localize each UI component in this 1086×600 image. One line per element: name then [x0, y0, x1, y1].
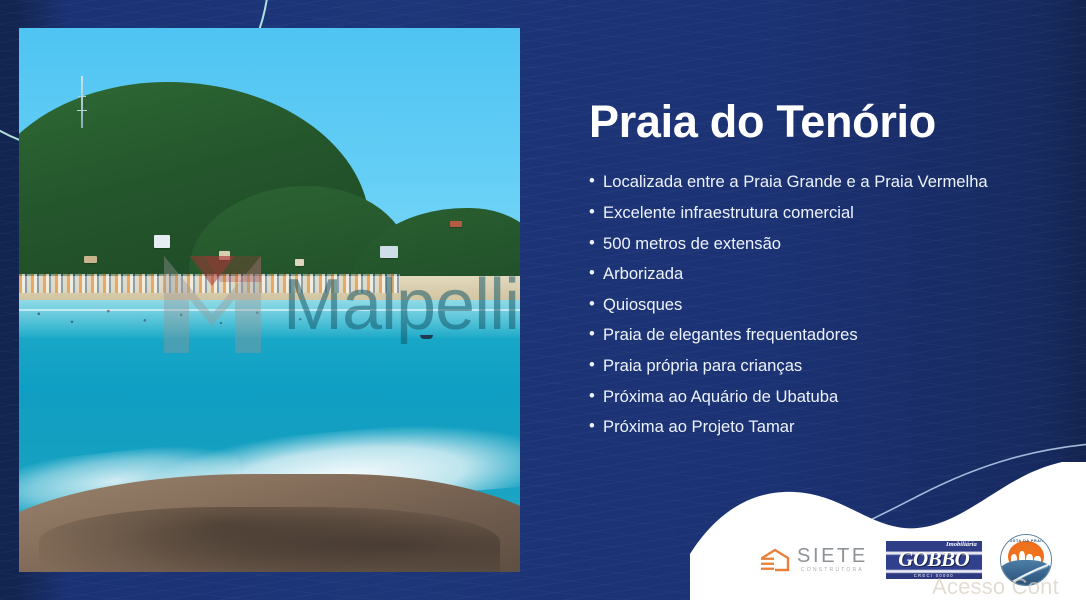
gobbo-wordmark: GOBBO: [886, 549, 982, 570]
page-title: Praia do Tenório: [589, 96, 1069, 147]
feature-list: Localizada entre a Praia Grande e a Prai…: [589, 173, 1069, 435]
photo-building: [295, 259, 304, 266]
photo-rock-shadow: [39, 507, 500, 572]
siete-subtitle: CONSTRUTORA: [797, 568, 868, 573]
photo-building: [380, 246, 398, 258]
list-item: Quiosques: [589, 296, 1069, 313]
list-item: Praia própria para crianças: [589, 357, 1069, 374]
footer-caption: Acesso Cont: [932, 574, 1059, 600]
badge-arc-text: COSTA DA PRAIA: [1001, 539, 1051, 543]
list-item: Próxima ao Projeto Tamar: [589, 418, 1069, 435]
photo-building: [450, 221, 462, 227]
photo-antenna-tower: [81, 76, 83, 128]
siete-name: SIETE: [797, 546, 868, 566]
photo-building: [154, 235, 170, 248]
house-outline-icon: [760, 547, 790, 573]
list-item: Excelente infraestrutura comercial: [589, 204, 1069, 221]
list-item: Próxima ao Aquário de Ubatuba: [589, 388, 1069, 405]
photo-building: [219, 251, 230, 260]
list-item: Localizada entre a Praia Grande e a Prai…: [589, 173, 1069, 190]
photo-swimmers: [19, 303, 350, 330]
list-item: 500 metros de extensão: [589, 235, 1069, 252]
partner-logo-siete[interactable]: SIETE CONSTRUTORA: [760, 546, 868, 573]
list-item: Praia de elegantes frequentadores: [589, 326, 1069, 343]
list-item: Arborizada: [589, 265, 1069, 282]
beach-photo: [19, 28, 520, 572]
photo-building: [84, 256, 97, 263]
presentation-slide: Malpelli Praia do Tenório Localizada ent…: [0, 0, 1086, 600]
slide-content: Praia do Tenório Localizada entre a Prai…: [589, 96, 1069, 449]
photo-beach-umbrellas: [19, 274, 400, 294]
